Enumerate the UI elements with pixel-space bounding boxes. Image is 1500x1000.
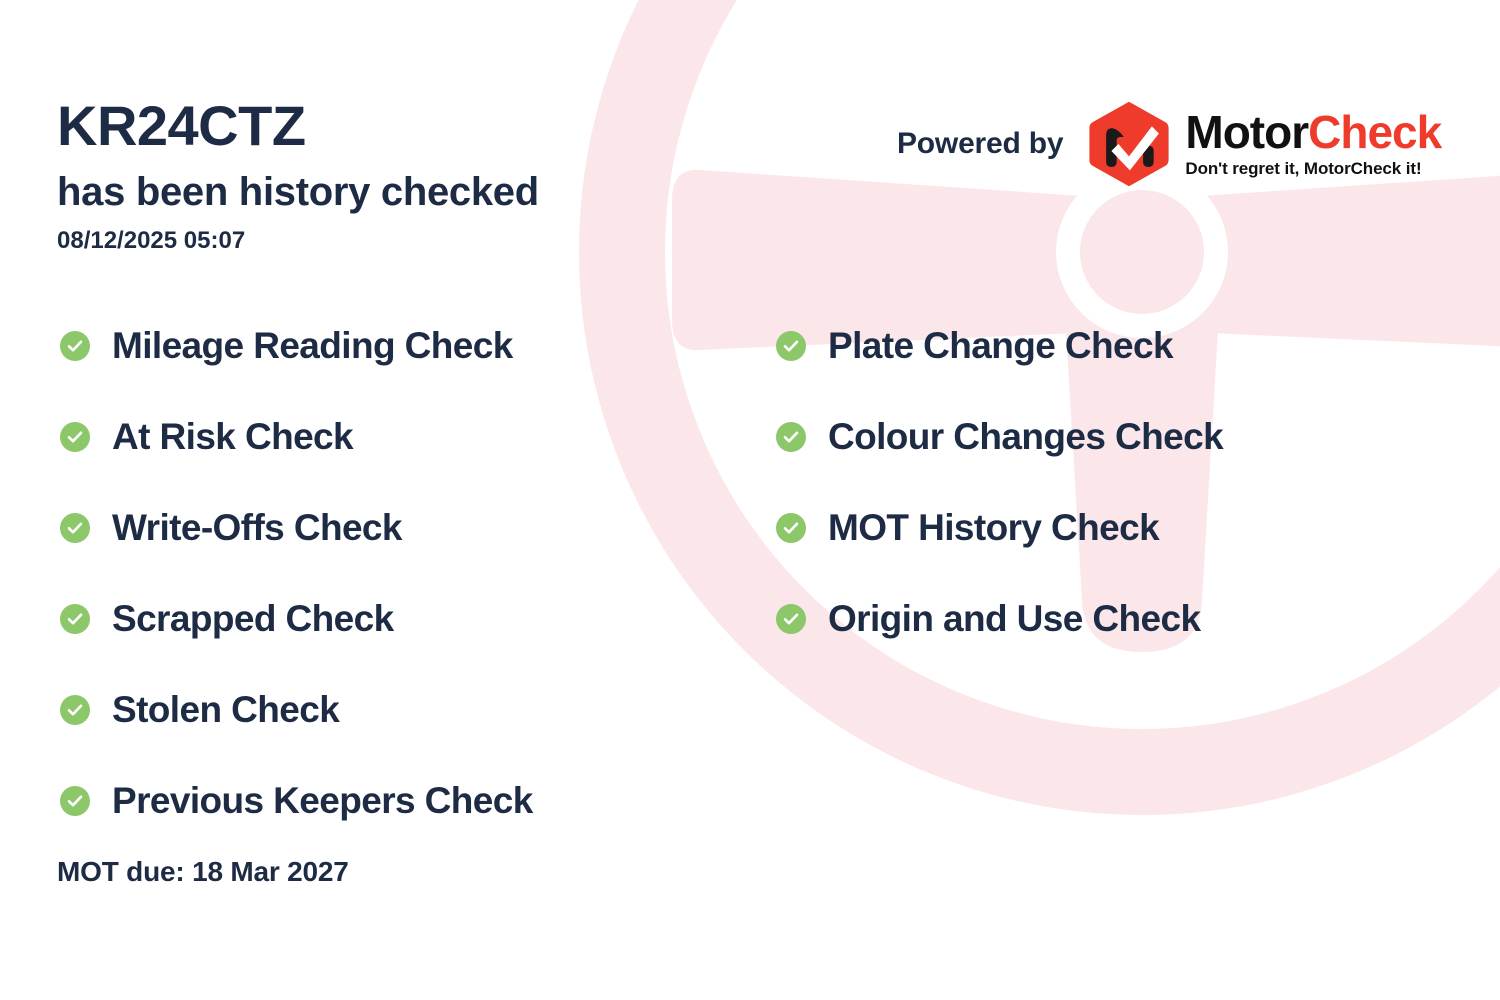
check-circle-icon bbox=[60, 695, 90, 725]
wordmark-motor: Motor bbox=[1185, 106, 1308, 158]
check-item: Stolen Check bbox=[60, 664, 533, 755]
check-item-label: Colour Changes Check bbox=[828, 418, 1223, 455]
check-item-label: At Risk Check bbox=[112, 418, 353, 455]
check-item: Scrapped Check bbox=[60, 573, 533, 664]
check-item: Origin and Use Check bbox=[776, 573, 1223, 664]
check-item-label: Plate Change Check bbox=[828, 327, 1173, 364]
check-circle-icon bbox=[776, 513, 806, 543]
check-item-label: Mileage Reading Check bbox=[112, 327, 513, 364]
check-timestamp: 08/12/2025 05:07 bbox=[57, 228, 245, 254]
check-item-label: Write-Offs Check bbox=[112, 509, 402, 546]
check-item-label: MOT History Check bbox=[828, 509, 1159, 546]
check-circle-icon bbox=[60, 604, 90, 634]
check-circle-icon bbox=[60, 422, 90, 452]
wordmark-row: MotorCheck bbox=[1185, 109, 1441, 155]
check-circle-icon bbox=[60, 513, 90, 543]
check-item: Write-Offs Check bbox=[60, 482, 533, 573]
check-item-label: Scrapped Check bbox=[112, 600, 394, 637]
check-item-label: Stolen Check bbox=[112, 691, 339, 728]
share-card: KR24CTZ has been history checked 08/12/2… bbox=[0, 0, 1500, 1000]
check-circle-icon bbox=[60, 331, 90, 361]
check-circle-icon bbox=[776, 604, 806, 634]
check-item: Colour Changes Check bbox=[776, 391, 1223, 482]
check-list-right: Plate Change Check Colour Changes Check … bbox=[776, 300, 1223, 664]
check-item: Mileage Reading Check bbox=[60, 300, 533, 391]
check-item: MOT History Check bbox=[776, 482, 1223, 573]
motorcheck-logo[interactable]: MotorCheck Don't regret it, MotorCheck i… bbox=[1085, 100, 1441, 188]
page-subtitle: has been history checked bbox=[57, 170, 539, 214]
check-item-label: Previous Keepers Check bbox=[112, 782, 533, 819]
check-item-label: Origin and Use Check bbox=[828, 600, 1201, 637]
mot-due-text: MOT due: 18 Mar 2027 bbox=[57, 856, 349, 888]
check-list-left: Mileage Reading Check At Risk Check Writ… bbox=[60, 300, 533, 846]
check-circle-icon bbox=[776, 331, 806, 361]
check-circle-icon bbox=[60, 786, 90, 816]
motorcheck-hexagon-icon bbox=[1085, 100, 1173, 188]
brand-tagline: Don't regret it, MotorCheck it! bbox=[1185, 159, 1441, 179]
check-item: Plate Change Check bbox=[776, 300, 1223, 391]
motorcheck-wordmark: MotorCheck Don't regret it, MotorCheck i… bbox=[1185, 109, 1441, 179]
check-item: Previous Keepers Check bbox=[60, 755, 533, 846]
wordmark-check: Check bbox=[1308, 106, 1441, 158]
powered-by-label: Powered by bbox=[897, 127, 1063, 161]
powered-by-block: Powered by MotorCheck Don't regret it, M… bbox=[897, 100, 1441, 188]
check-item: At Risk Check bbox=[60, 391, 533, 482]
page-title: KR24CTZ bbox=[57, 98, 306, 154]
check-circle-icon bbox=[776, 422, 806, 452]
